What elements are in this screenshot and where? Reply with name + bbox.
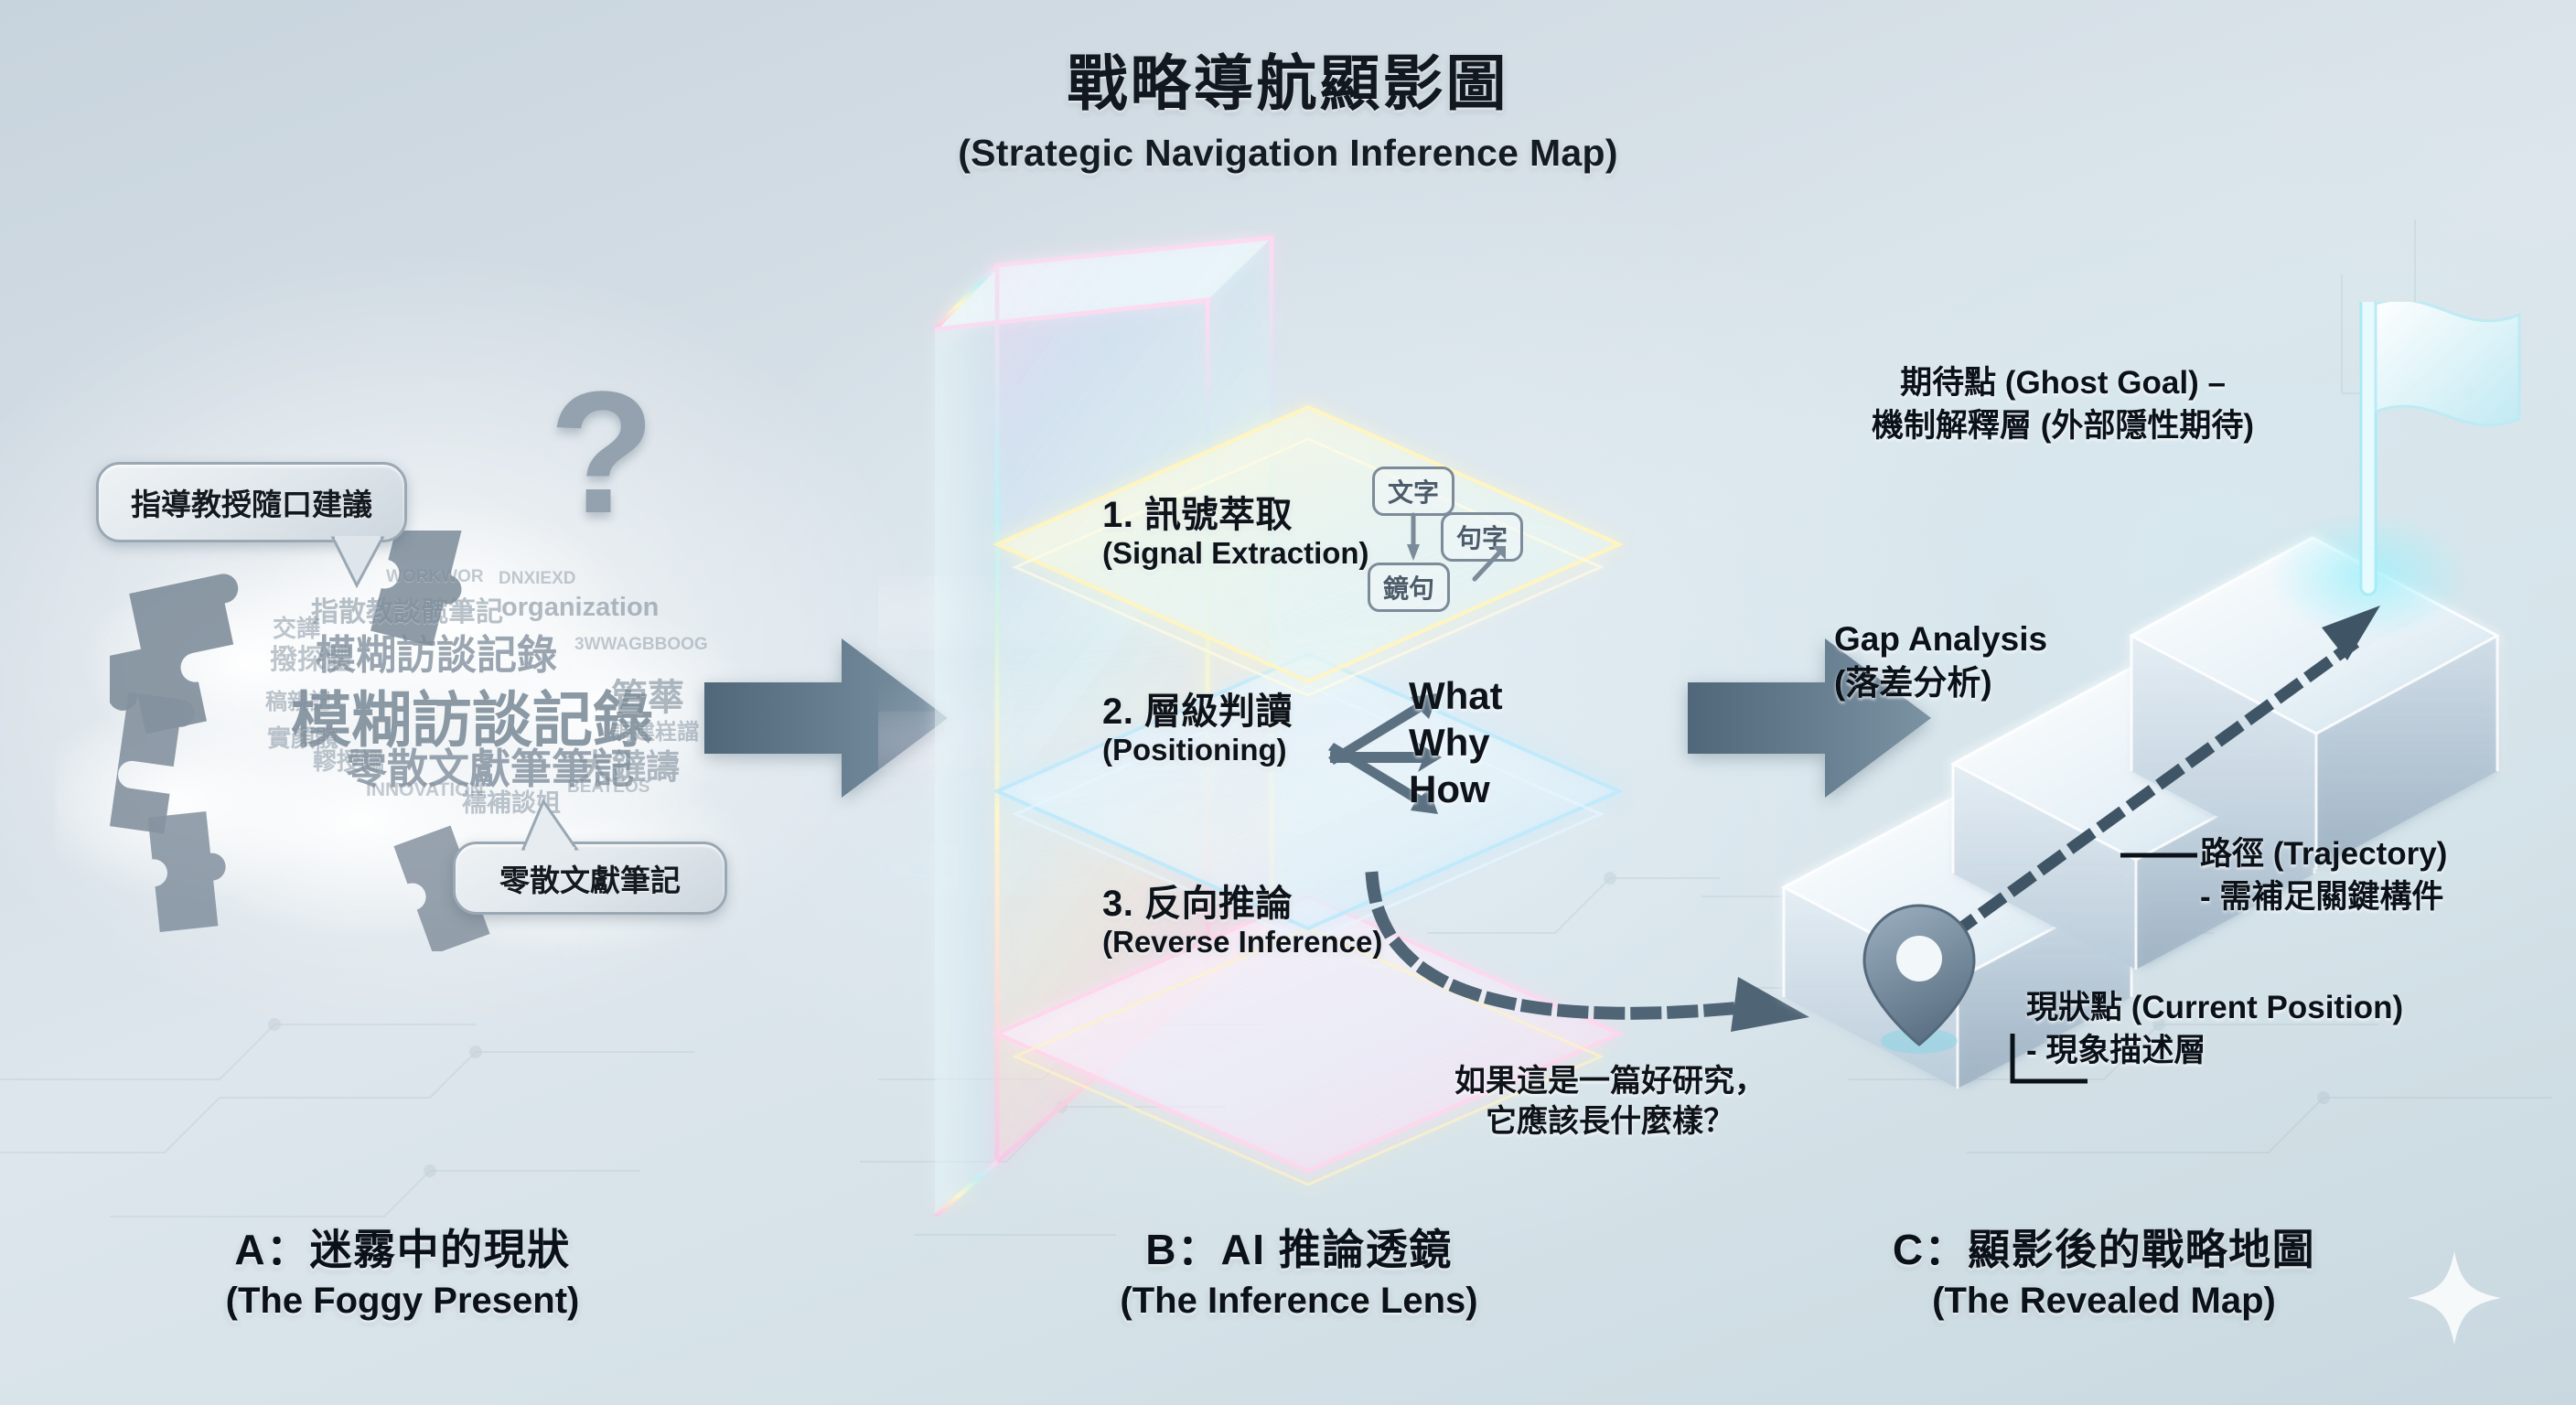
ghost-goal-label: 期待點 (Ghost Goal) – 機制解釋層 (外部隱性期待)	[1779, 361, 2346, 448]
signal-tag-wenzi-text: 文字	[1388, 473, 1439, 509]
lens-layer-1-zh: 1. 訊號萃取	[1102, 485, 1369, 538]
gap-analysis-line2: (落差分析)	[1834, 661, 2047, 705]
section-b-caption-en: (The Inference Lens)	[997, 1281, 1601, 1322]
positioning-output-why: Why	[1409, 719, 1503, 766]
lens-layer-3-en: (Reverse Inference)	[1102, 925, 1382, 960]
word-cloud-term: BEATEOS	[567, 778, 649, 798]
current-position-line2: - 現象描述層	[2026, 1029, 2403, 1072]
positioning-output-how: How	[1409, 766, 1503, 812]
section-a-caption-en: (The Foggy Present)	[101, 1281, 704, 1322]
speech-bubble-advice-tail	[329, 536, 393, 591]
gap-analysis-label: Gap Analysis (落差分析)	[1834, 617, 2047, 705]
speech-bubble-notes-text: 零散文獻筆記	[499, 856, 681, 900]
speech-bubble-notes: 零散文獻筆記	[453, 842, 727, 915]
positioning-output-what: What	[1409, 672, 1503, 719]
speech-bubble-notes-tail	[512, 798, 585, 853]
word-cloud-term: WORKWOR	[386, 567, 484, 587]
page-subtitle: (Strategic Navigation Inference Map)	[0, 132, 2576, 175]
page-title: 戰略導航顯影圖	[0, 35, 2576, 123]
ghost-goal-line2: 機制解釋層 (外部隱性期待)	[1779, 404, 2346, 447]
title-block: 戰略導航顯影圖 (Strategic Navigation Inference …	[0, 35, 2576, 175]
arc-caption-line1: 如果這是一篇好研究，	[1413, 1061, 1807, 1101]
section-c-caption-zh: C：顯影後的戰略地圖	[1784, 1217, 2424, 1277]
word-cloud: WORKWORDNXIEXD指散教談髋筆記organization交譁模糊訪談記…	[265, 560, 778, 834]
positioning-outputs: What Why How	[1409, 672, 1503, 813]
question-mark-icon: ?	[549, 366, 655, 540]
arc-caption-line2: 它應該長什麼樣？	[1413, 1101, 1807, 1142]
sparkle-icon	[2404, 1248, 2505, 1348]
section-caption-a: A：迷霧中的現狀 (The Foggy Present)	[101, 1217, 704, 1322]
trajectory-line1: 路徑 (Trajectory)	[2200, 832, 2447, 875]
lens-layer-1-en: (Signal Extraction)	[1102, 536, 1369, 571]
word-cloud-term: DNXIEXD	[499, 569, 575, 589]
signal-tag-arrows	[1363, 508, 1546, 627]
lens-layer-2-zh: 2. 層級判讀	[1102, 681, 1293, 735]
word-cloud-term: 3WWAGBBOOG	[574, 635, 708, 655]
lens-layer-2-label: 2. 層級判讀 (Positioning)	[1102, 681, 1293, 767]
speech-bubble-advice: 指導教授隨口建議	[96, 462, 407, 542]
section-b-caption-zh: B：AI 推論透鏡	[997, 1217, 1601, 1277]
current-position-label: 現狀點 (Current Position) - 現象描述層	[2026, 986, 2403, 1073]
trajectory-label: 路徑 (Trajectory) - 需補足關鍵構件	[2200, 832, 2447, 919]
current-position-line1: 現狀點 (Current Position)	[2026, 986, 2403, 1029]
lens-layer-1-label: 1. 訊號萃取 (Signal Extraction)	[1102, 485, 1369, 571]
section-caption-c: C：顯影後的戰略地圖 (The Revealed Map)	[1784, 1217, 2424, 1322]
lens-layer-3-zh: 3. 反向推論	[1102, 874, 1382, 927]
trajectory-line2: - 需補足關鍵構件	[2200, 875, 2447, 918]
word-cloud-term: organization	[501, 593, 659, 623]
lens-layer-3-label: 3. 反向推論 (Reverse Inference)	[1102, 874, 1382, 960]
speech-bubble-advice-text: 指導教授隨口建議	[131, 480, 372, 524]
section-c-caption-en: (The Revealed Map)	[1784, 1281, 2424, 1322]
arc-caption: 如果這是一篇好研究， 它應該長什麼樣？	[1413, 1061, 1807, 1142]
section-a-caption-zh: A：迷霧中的現狀	[101, 1217, 704, 1277]
infographic-canvas: 戰略導航顯影圖 (Strategic Navigation Inference …	[0, 0, 2576, 1405]
section-caption-b: B：AI 推論透鏡 (The Inference Lens)	[997, 1217, 1601, 1322]
gap-analysis-line1: Gap Analysis	[1834, 617, 2047, 661]
ghost-goal-line1: 期待點 (Ghost Goal) –	[1779, 361, 2346, 404]
lens-layer-2-en: (Positioning)	[1102, 733, 1293, 767]
